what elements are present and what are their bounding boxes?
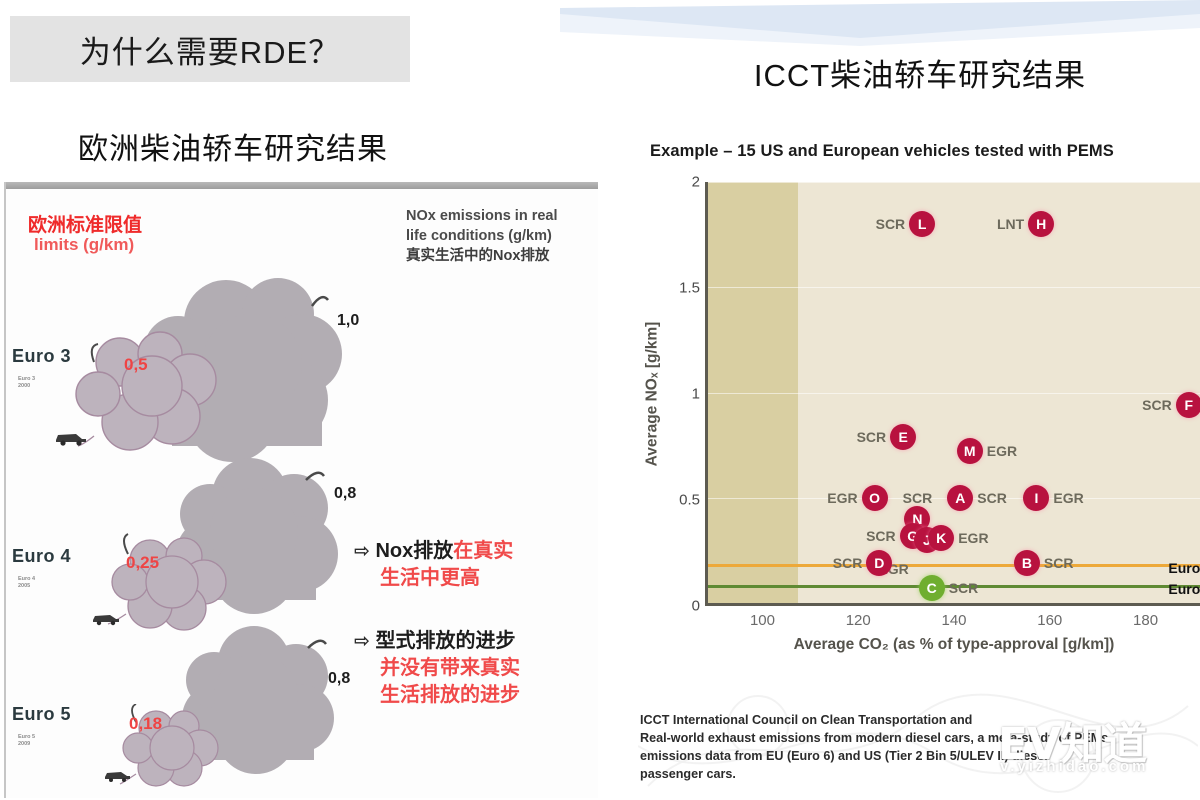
icct-chart-card: Example – 15 US and European vehicles te…: [632, 134, 1200, 710]
euro-5-limit-value: 0,18: [129, 714, 162, 734]
page-title-box: 为什么需要RDE？: [10, 16, 410, 82]
left-section-subtitle: 欧洲柴油轿车研究结果: [78, 124, 548, 168]
data-point-I[interactable]: EGRI: [1023, 485, 1049, 511]
gridline: [708, 182, 1200, 183]
data-point-marker-O[interactable]: O: [862, 485, 888, 511]
scatter-plot-area: EGRSCRLLNTHSCRFSCREEGRMEGROSCRAEGRISCRNS…: [705, 182, 1200, 606]
data-point-marker-B[interactable]: B: [1014, 550, 1040, 576]
x-tick-100: 100: [750, 612, 775, 629]
right-section-title: ICCT柴油轿车研究结果: [700, 50, 1140, 95]
y-tick-0: 0: [692, 598, 700, 615]
data-point-E[interactable]: SCRE: [890, 424, 916, 450]
data-point-tech-label-K: EGR: [958, 530, 988, 546]
real-note-line-1: NOx emissions in real: [406, 206, 602, 226]
euro-5-real-value: 0,8: [328, 670, 350, 688]
data-point-L[interactable]: SCRL: [909, 211, 935, 237]
euro-5-tiny-line-2: 2009: [18, 741, 35, 748]
conclusion-1-black: Nox排放: [375, 540, 453, 562]
data-point-tech-label-B: SCR: [1044, 555, 1074, 571]
data-point-tech-label-F: SCR: [1142, 397, 1172, 413]
caption-line: passenger cars.: [640, 766, 1200, 784]
euro-4-limit-value: 0,25: [126, 553, 159, 573]
caption-line: ICCT International Council on Clean Tran…: [640, 712, 1200, 730]
euro-row-4: Euro 4 Euro 4 2005: [6, 450, 598, 645]
data-point-F[interactable]: SCRF: [1176, 392, 1200, 418]
y-tick-1-5: 1.5: [679, 280, 700, 297]
data-point-marker-K[interactable]: K: [928, 525, 954, 551]
euro-5-tiny-caption: Euro 5 2009: [18, 734, 35, 748]
gridline: [708, 393, 1200, 394]
data-point-K[interactable]: EGRK: [928, 525, 954, 551]
data-point-marker-M[interactable]: M: [957, 438, 983, 464]
data-point-marker-H[interactable]: H: [1028, 211, 1054, 237]
euro-5-standard-label: Euro 5: [12, 704, 71, 725]
data-point-tech-label-A: SCR: [977, 490, 1007, 506]
euro-3-tiny-line-2: 2000: [18, 383, 35, 390]
conclusion-1-line-2: 生活中更高: [354, 565, 594, 592]
data-point-A[interactable]: SCRA: [947, 485, 973, 511]
data-point-C[interactable]: SCRC: [919, 575, 945, 601]
data-point-marker-A[interactable]: A: [947, 485, 973, 511]
conclusion-2-line-1: ⇨ 型式排放的进步: [354, 628, 604, 655]
conclusion-1-red: 在真实: [453, 540, 513, 562]
conclusion-1-line-1: ⇨ Nox排放在真实: [354, 538, 594, 565]
euro-row-5: Euro 5 Euro 5 2009: [6, 622, 598, 798]
euro-3-tiny-line-1: Euro 3: [18, 376, 35, 383]
conclusion-2-line-3: 生活排放的进步: [354, 682, 604, 709]
data-point-D[interactable]: SCRD: [866, 550, 892, 576]
data-point-tech-label-E: SCR: [857, 429, 887, 445]
data-point-marker-L[interactable]: L: [909, 211, 935, 237]
y-tick-0-5: 0.5: [679, 492, 700, 509]
euro-4-standard-label: Euro 4: [12, 546, 71, 567]
euro-4-tiny-line-1: Euro 4: [18, 576, 35, 583]
euro-3-real-value: 1,0: [337, 312, 359, 330]
real-note-line-2: life conditions (g/km): [406, 226, 602, 246]
euro-4-real-value: 0,8: [334, 485, 356, 503]
euro-3-standard-label: Euro 3: [12, 346, 71, 367]
y-tick-2: 2: [692, 174, 700, 191]
caption-line: Real-world exhaust emissions from modern…: [640, 730, 1200, 748]
arrow-icon-2: ⇨: [354, 631, 370, 652]
panel-top-bar: [6, 182, 598, 189]
gridline: [708, 287, 1200, 288]
x-tick-160: 160: [1037, 612, 1062, 629]
x-tick-180: 180: [1133, 612, 1158, 629]
real-note-line-3: 真实生活中的Nox排放: [406, 246, 602, 266]
y-axis-label: Average NOₓ [g/km]: [640, 182, 664, 606]
x-tick-120: 120: [846, 612, 871, 629]
data-point-M[interactable]: EGRM: [957, 438, 983, 464]
limits-subheading: limits (g/km): [34, 235, 134, 255]
euro-3-car-icon: [52, 428, 92, 446]
euro-3-limit-value: 0,5: [124, 355, 148, 375]
euro-5-car-icon: [102, 768, 134, 783]
data-point-marker-E[interactable]: E: [890, 424, 916, 450]
data-point-B[interactable]: SCRB: [1014, 550, 1040, 576]
chart-caption: ICCT International Council on Clean Tran…: [640, 712, 1200, 784]
x-tick-140: 140: [941, 612, 966, 629]
data-point-tech-label-M: EGR: [987, 443, 1017, 459]
data-point-tech-label-C: SCR: [949, 580, 979, 596]
y-tick-1: 1: [692, 386, 700, 403]
euro-4-tiny-caption: Euro 4 2005: [18, 576, 35, 590]
conclusion-1: ⇨ Nox排放在真实 生活中更高: [354, 538, 594, 592]
data-point-tech-label-H: LNT: [997, 216, 1024, 232]
x-axis-ticks: 100120140160180: [705, 612, 1200, 634]
data-point-marker-F[interactable]: F: [1176, 392, 1200, 418]
euro-3-limit-cloud: [68, 328, 228, 464]
data-point-tech-label-N: SCR: [903, 490, 933, 506]
caption-line: emissions data from EU (Euro 6) and US (…: [640, 748, 1200, 766]
limits-heading: 欧洲标准限值: [28, 210, 142, 237]
data-point-H[interactable]: LNTH: [1028, 211, 1054, 237]
x-axis-label: Average CO₂ (as % of type-approval [g/km…: [705, 636, 1200, 654]
euro-5-tiny-line-1: Euro 5: [18, 734, 35, 741]
decorative-ribbon: [560, 0, 1200, 46]
data-point-O[interactable]: EGRO: [862, 485, 888, 511]
data-point-tech-label-L: SCR: [876, 216, 906, 232]
data-point-marker-I[interactable]: I: [1023, 485, 1049, 511]
data-point-marker-D[interactable]: D: [866, 550, 892, 576]
conclusion-2-line-2: 并没有带来真实: [354, 655, 604, 682]
data-point-tech-label-G: SCR: [866, 528, 896, 544]
arrow-icon-1: ⇨: [354, 541, 370, 562]
data-point-marker-C[interactable]: C: [919, 575, 945, 601]
euro-4-tiny-line-2: 2005: [18, 583, 35, 590]
chart-header-title: Example – 15 US and European vehicles te…: [650, 142, 1114, 161]
page-title: 为什么需要RDE？: [80, 27, 340, 72]
data-point-tech-label-I: EGR: [1053, 490, 1083, 506]
y-axis-ticks: 00.511.52: [676, 182, 700, 606]
conclusion-2: ⇨ 型式排放的进步 并没有带来真实 生活排放的进步: [354, 628, 604, 709]
data-point-tech-label-O: EGR: [827, 490, 857, 506]
reference-line-euro-5: [708, 564, 1200, 567]
conclusion-2-black: 型式排放的进步: [375, 630, 515, 652]
real-life-note: NOx emissions in real life conditions (g…: [406, 206, 602, 266]
slide-root: 为什么需要RDE？ 欧洲柴油轿车研究结果 欧洲标准限值 limits (g/km…: [0, 0, 1200, 800]
euro-3-tiny-caption: Euro 3 2000: [18, 376, 35, 390]
left-figure-panel: 欧洲标准限值 limits (g/km) NOx emissions in re…: [4, 182, 598, 798]
euro-row-3: Euro 3 Euro 3 2000: [6, 272, 598, 472]
data-point-tech-label-D: SCR: [833, 555, 863, 571]
